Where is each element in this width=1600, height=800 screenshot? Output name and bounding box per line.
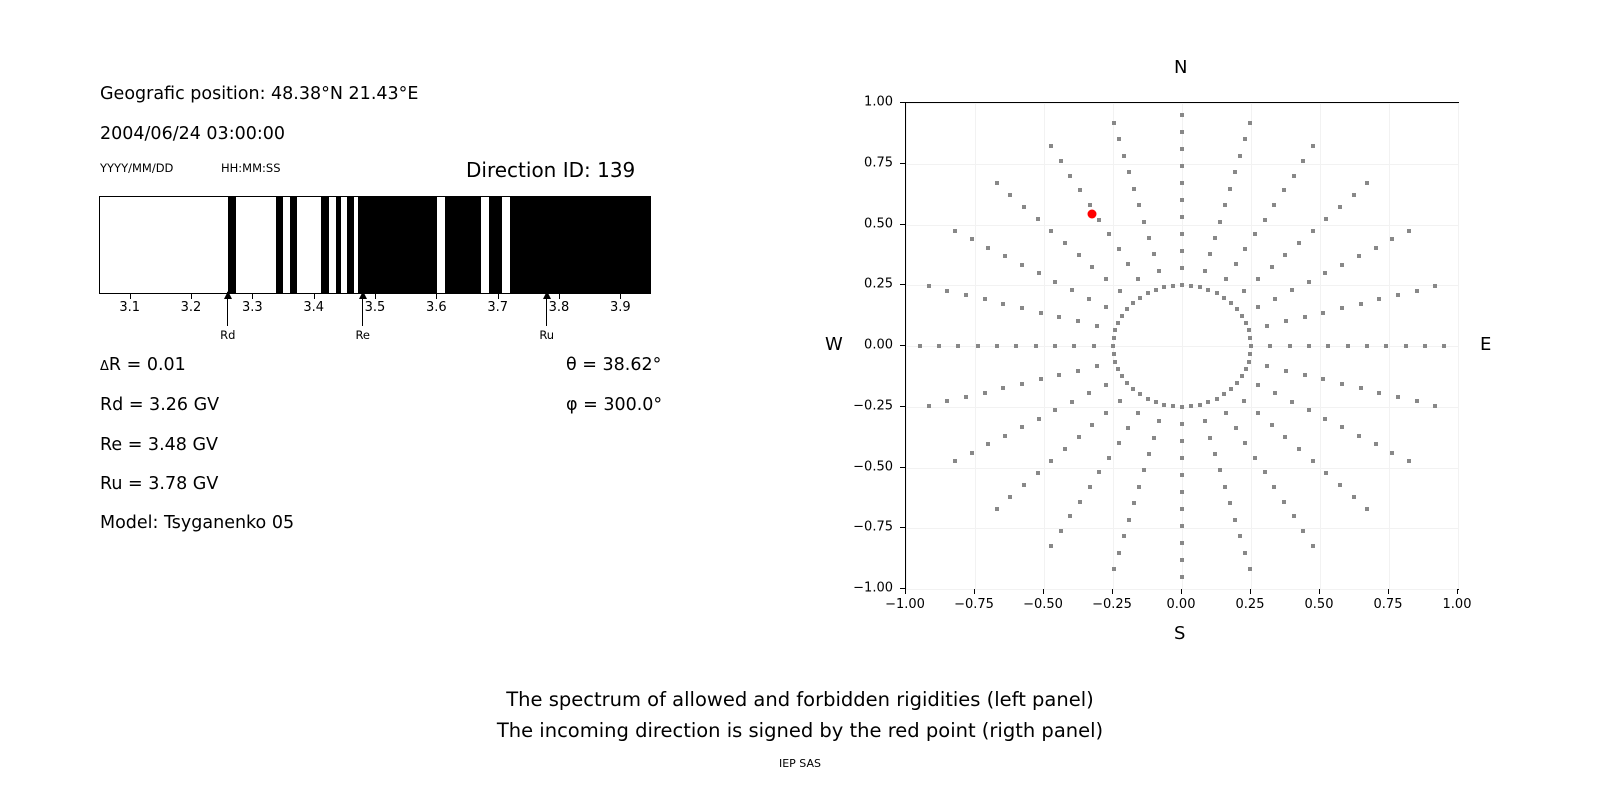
direction-dot [976,344,980,348]
rigidity-spectrum-bar [99,196,651,294]
footer-credit: IEP SAS [0,757,1600,770]
param-re: Re = 3.48 GV [100,435,218,455]
direction-dot [1407,229,1411,233]
direction-dot [1146,397,1150,401]
direction-dot [1272,485,1276,489]
direction-dot [1049,544,1053,548]
direction-dot [1234,426,1238,430]
direction-dot [1180,130,1184,134]
x-axis-tick-label: −0.50 [1023,597,1063,612]
gridline-horizontal [906,528,1458,529]
direction-dot [1116,321,1120,325]
y-axis-tick-label: 1.00 [839,95,893,110]
direction-dot [1087,297,1091,301]
direction-dot [1180,490,1184,494]
direction-dot [1097,218,1101,222]
direction-dot [1107,232,1111,236]
direction-dot [964,293,968,297]
gridline-horizontal [906,103,1458,104]
direction-dot [1224,411,1228,415]
direction-dot [1088,203,1092,207]
direction-dot [1136,277,1140,281]
rigidity-marker-label: Rd [220,328,235,342]
direction-dot [1359,386,1363,390]
direction-dot [1189,404,1193,408]
y-axis-tick [900,527,905,528]
x-axis-tick-label: −0.75 [954,597,994,612]
direction-dot [1180,249,1184,253]
direction-dot [945,289,949,293]
direction-dot [1248,336,1252,340]
direction-dot [983,297,987,301]
direction-dot [1126,262,1130,266]
y-axis-tick-label: −1.00 [839,581,893,596]
x-axis-tick [1112,589,1113,594]
direction-dot [1265,364,1269,368]
direction-dot [1127,170,1131,174]
direction-dot [1008,495,1012,499]
direction-dot [927,284,931,288]
direction-dot [1215,397,1219,401]
direction-dot [1095,364,1099,368]
direction-dot [1037,271,1041,275]
y-axis-tick-label: 0.75 [839,155,893,170]
direction-dot [1396,293,1400,297]
direction-dot [970,237,974,241]
direction-dot [1218,468,1222,472]
y-axis-tick [900,224,905,225]
direction-dot [1233,170,1237,174]
direction-dot [1112,336,1116,340]
direction-dot [1138,392,1142,396]
forbidden-band [290,197,298,293]
x-axis-tick [1319,589,1320,594]
direction-dot [1243,247,1247,251]
direction-dot [1442,344,1446,348]
direction-dot [1020,263,1024,267]
rigidity-marker-arrowhead [224,291,232,299]
direction-dot [1321,377,1325,381]
direction-dot [1396,395,1400,399]
y-axis-tick [900,284,905,285]
direction-dot [1090,265,1094,269]
direction-dot [1104,383,1108,387]
direction-dot [1020,306,1024,310]
y-axis-tick [900,345,905,346]
direction-dot [1053,344,1057,348]
direction-dot [1249,344,1253,348]
x-axis-tick [1043,589,1044,594]
direction-dot [1288,344,1292,348]
direction-dot [1240,374,1244,378]
delta-symbol: Δ [100,359,109,374]
direction-dot [1189,284,1193,288]
direction-dot [1206,400,1210,404]
axis-tick-label: 3.6 [426,300,447,315]
param-phi: φ = 300.0° [566,395,662,415]
direction-dot [1117,247,1121,251]
direction-dot [1256,383,1260,387]
axis-tick-label: 3.1 [119,300,140,315]
direction-dot [1273,297,1277,301]
direction-dot [1022,483,1026,487]
direction-id-label: Direction ID: 139 [466,158,635,182]
direction-dot [1235,381,1239,385]
direction-dot [1374,442,1378,446]
direction-dot [1390,237,1394,241]
direction-dot [1088,485,1092,489]
direction-dot [1346,344,1350,348]
direction-dot [1127,518,1131,522]
direction-dot [1234,262,1238,266]
axis-tick [252,294,253,299]
direction-dot [1003,254,1007,258]
direction-dot [1180,164,1184,168]
direction-dot [918,344,922,348]
direction-dot [1132,501,1136,505]
y-axis-tick [900,467,905,468]
direction-dot [1223,485,1227,489]
direction-dot [1120,314,1124,318]
direction-dot [1039,377,1043,381]
direction-dot [1248,121,1252,125]
direction-dot [1180,439,1184,443]
param-delta-r: ΔR = 0.01 [100,355,186,375]
direction-dot [1307,344,1311,348]
direction-dot [1180,147,1184,151]
direction-dot [1301,529,1305,533]
direction-dot [1282,188,1286,192]
direction-dot [970,451,974,455]
direction-dot [1208,436,1212,440]
direction-dot [1152,252,1156,256]
direction-dot [1111,344,1115,348]
direction-dot [1321,311,1325,315]
axis-tick [620,294,621,299]
direction-dot [1171,284,1175,288]
direction-dot [1273,391,1277,395]
direction-dot [1180,283,1184,287]
direction-dot [1049,144,1053,148]
y-axis-tick [900,163,905,164]
direction-dot [1037,417,1041,421]
direction-dot [1272,203,1276,207]
direction-dot [1078,500,1082,504]
direction-dot [1283,435,1287,439]
direction-dot [1126,426,1130,430]
direction-dot [1365,344,1369,348]
direction-dot [1180,232,1184,236]
direction-dot [1180,473,1184,477]
direction-dot [1282,500,1286,504]
direction-dot [1433,284,1437,288]
direction-dot [1307,408,1311,412]
caption-line-1: The spectrum of allowed and forbidden ri… [0,688,1600,711]
direction-dot [1243,137,1247,141]
direction-dot [1374,246,1378,250]
direction-dot [1297,447,1301,451]
direction-dot [1001,386,1005,390]
direction-dot [1180,524,1184,528]
direction-dot [1297,241,1301,245]
direction-dot [1063,241,1067,245]
forbidden-band [358,197,438,293]
x-axis-tick-label: 0.25 [1236,597,1265,612]
direction-dot [1092,344,1096,348]
forbidden-band [445,197,482,293]
direction-dot [1243,441,1247,445]
rigidity-marker-label: Re [355,328,370,342]
direction-dot [1162,285,1166,289]
direction-dot [1228,187,1232,191]
direction-dot [1324,471,1328,475]
direction-dot [1198,285,1202,289]
direction-dot [1053,408,1057,412]
direction-dot [1157,419,1161,423]
direction-dot [1283,253,1287,257]
direction-dot [1008,193,1012,197]
direction-dot [1265,324,1269,328]
rigidity-marker-arrowhead [359,291,367,299]
direction-dot [1292,514,1296,518]
direction-dot [1256,305,1260,309]
direction-dot [1120,374,1124,378]
direction-dot [1326,344,1330,348]
axis-tick-label: 3.7 [487,300,508,315]
direction-dot [1270,265,1274,269]
direction-dot [1125,381,1129,385]
y-axis-tick-label: −0.50 [839,459,893,474]
direction-dot [1180,558,1184,562]
param-model: Model: Tsyganenko 05 [100,513,294,533]
direction-dot [1247,328,1251,332]
direction-dot [995,507,999,511]
axis-tick-label: 3.9 [610,300,631,315]
direction-dot [1256,411,1260,415]
direction-dot [1352,495,1356,499]
geographic-position-label: Geografic position: 48.38°N 21.43°E [100,84,418,104]
direction-dot [1415,399,1419,403]
datetime-label: 2004/06/24 03:00:00 [100,124,285,144]
direction-dot [1256,277,1260,281]
direction-dot [1233,518,1237,522]
direction-dot [1118,289,1122,293]
direction-dot [1307,280,1311,284]
direction-dot [1377,297,1381,301]
forbidden-band [336,197,342,293]
direction-dot [1311,144,1315,148]
axis-tick [191,294,192,299]
param-ru: Ru = 3.78 GV [100,474,218,494]
forbidden-band [276,197,283,293]
direction-dot [1433,404,1437,408]
y-axis-tick-label: −0.25 [839,398,893,413]
direction-dot [953,229,957,233]
direction-dot [1070,400,1074,404]
direction-dot [1112,121,1116,125]
direction-dot [1243,551,1247,555]
direction-dot [1284,319,1288,323]
direction-dot [1078,188,1082,192]
compass-west-label: W [825,334,843,355]
direction-dot [1113,328,1117,332]
direction-dot [1365,181,1369,185]
direction-dot [1244,367,1248,371]
direction-dot [1311,544,1315,548]
direction-dot [1152,436,1156,440]
direction-dot [1022,205,1026,209]
axis-tick [375,294,376,299]
direction-dot [1290,288,1294,292]
direction-dot [1125,307,1129,311]
direction-dot [1180,507,1184,511]
direction-dot [1247,360,1251,364]
x-axis-tick-label: −1.00 [885,597,925,612]
direction-dot [1377,391,1381,395]
direction-dot [1142,468,1146,472]
direction-map-axes [905,102,1459,590]
direction-dot [1068,174,1072,178]
direction-dot [1248,567,1252,571]
direction-dot [1122,534,1126,538]
x-axis-tick [1181,589,1182,594]
direction-dot [1215,291,1219,295]
direction-dot [1076,369,1080,373]
direction-dot [1340,263,1344,267]
direction-dot [1352,193,1356,197]
x-axis-tick-label: 1.00 [1443,597,1472,612]
direction-dot [1049,229,1053,233]
direction-dot [1053,280,1057,284]
direction-dot [1104,411,1108,415]
direction-dot [1077,253,1081,257]
direction-dot [1338,483,1342,487]
delta-r-value: R = 0.01 [109,355,186,375]
direction-dot [1213,236,1217,240]
direction-dot [1213,452,1217,456]
x-axis-tick-label: 0.00 [1167,597,1196,612]
gridline-horizontal [906,225,1458,226]
direction-dot [1116,367,1120,371]
forbidden-band [321,197,328,293]
direction-dot [1180,575,1184,579]
direction-dot [1198,403,1202,407]
forbidden-band [228,197,237,293]
direction-dot [1090,423,1094,427]
direction-dot [1311,459,1315,463]
direction-dot [1020,425,1024,429]
direction-dot [1235,307,1239,311]
direction-dot [1180,198,1184,202]
gridline-horizontal [906,589,1458,590]
direction-dot [1203,419,1207,423]
direction-dot [1157,269,1161,273]
direction-dot [1180,215,1184,219]
param-theta: θ = 38.62° [566,355,661,375]
rigidity-marker-label: Ru [539,328,554,342]
direction-dot [1218,220,1222,224]
direction-dot [1263,470,1267,474]
direction-dot [1154,288,1158,292]
direction-dot [1311,229,1315,233]
direction-dot [1407,459,1411,463]
x-axis-tick-label: 0.50 [1305,597,1334,612]
direction-dot [1340,425,1344,429]
direction-dot [1242,399,1246,403]
direction-dot [1180,113,1184,117]
date-format-hint: YYYY/MM/DD [100,161,173,175]
direction-dot [1162,403,1166,407]
direction-dot [1072,344,1076,348]
direction-dot [1270,423,1274,427]
direction-dot [1117,551,1121,555]
x-axis-tick [1457,589,1458,594]
direction-dot [1303,373,1307,377]
direction-dot [1284,369,1288,373]
direction-dot [1147,236,1151,240]
compass-south-label: S [1174,623,1185,644]
x-axis-tick [905,589,906,594]
direction-dot [1338,205,1342,209]
gridline-vertical [1458,103,1459,589]
y-axis-tick-label: 0.25 [839,277,893,292]
direction-dot [1138,296,1142,300]
direction-dot [1340,382,1344,386]
direction-dot [1224,277,1228,281]
direction-dot [1118,399,1122,403]
axis-tick-label: 3.2 [181,300,202,315]
direction-dot [986,442,990,446]
direction-dot [927,404,931,408]
axis-tick-label: 3.5 [365,300,386,315]
axis-tick-label: 3.4 [303,300,324,315]
direction-dot [1222,392,1226,396]
direction-dot [1077,435,1081,439]
direction-dot [1290,400,1294,404]
direction-dot [995,181,999,185]
direction-dot [1404,344,1408,348]
direction-dot [1003,434,1007,438]
direction-dot [1107,456,1111,460]
direction-dot [1423,344,1427,348]
direction-dot [1059,529,1063,533]
direction-dot [1323,271,1327,275]
direction-dot [1238,154,1242,158]
direction-dot [1415,289,1419,293]
direction-dot [1097,470,1101,474]
direction-dot [1036,471,1040,475]
direction-dot [1057,315,1061,319]
direction-dot [1180,456,1184,460]
direction-dot [1117,441,1121,445]
direction-dot [953,459,957,463]
direction-dot [1063,447,1067,451]
axis-tick [436,294,437,299]
direction-dot [1076,319,1080,323]
selected-direction-point [1088,210,1097,219]
y-axis-tick [900,406,905,407]
direction-dot [945,399,949,403]
spectrum-panel: Geografic position: 48.38°N 21.43°E 2004… [0,0,800,680]
direction-dot [1137,485,1141,489]
direction-dot [1146,291,1150,295]
gridline-horizontal [906,468,1458,469]
direction-dot [1132,187,1136,191]
direction-dot [1229,301,1233,305]
direction-dot [1059,159,1063,163]
direction-dot [1039,311,1043,315]
direction-dot [937,344,941,348]
